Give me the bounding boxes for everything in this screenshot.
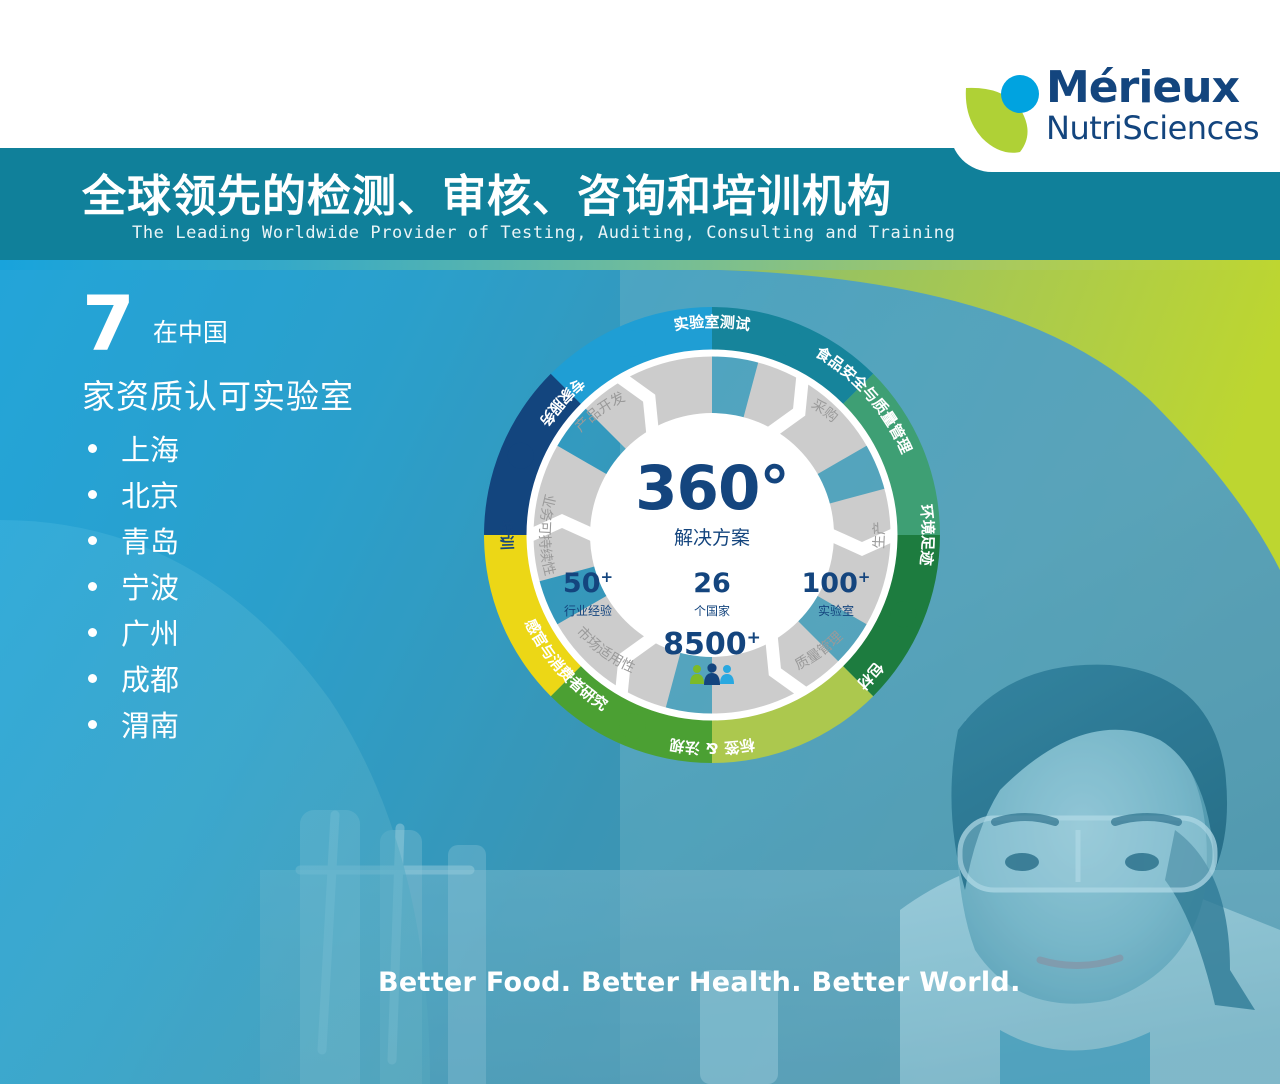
logo-name: Mérieux [1046,66,1259,110]
city-list-item: 宁波 [88,563,179,609]
city-name: 北京 [121,473,179,515]
city-list: 上海北京青岛宁波广州成都渭南 [88,425,179,747]
city-list-item: 渭南 [88,701,179,747]
merieux-logo-icon [960,72,1048,156]
page-subtitle: The Leading Worldwide Provider of Testin… [132,223,955,243]
lab-count-row: 7 在中国 [82,292,228,357]
city-list-item: 成都 [88,655,179,701]
tagline: Better Food. Better Health. Better World… [378,967,1021,998]
city-list-item: 上海 [88,425,179,471]
logo-wordmark: Mérieux NutriSciences [1046,66,1259,146]
360-solutions-wheel: 实验室测试 食品安全与质量管理 环境足迹 包材 标签 & 法规 感官与消费者研究… [462,285,962,785]
header-gradient-strip [0,260,1280,270]
bullet-icon [88,628,97,637]
bullet-icon [88,674,97,683]
logo-subname: NutriSciences [1046,112,1259,146]
city-name: 渭南 [121,703,179,745]
city-name: 宁波 [121,565,179,607]
city-list-item: 青岛 [88,517,179,563]
city-list-item: 广州 [88,609,179,655]
city-name: 青岛 [121,519,179,561]
page-title: 全球领先的检测、审核、咨询和培训机构 [82,160,892,224]
bullet-icon [88,444,97,453]
lab-description: 家资质认可实验室 [82,370,354,418]
city-name: 成都 [121,657,179,699]
lab-count-label: 在中国 [153,313,228,349]
bullet-icon [88,536,97,545]
city-name: 上海 [121,427,179,469]
lab-count-number: 7 [82,292,135,357]
brand-logo: Mérieux NutriSciences [950,54,1280,172]
bullet-icon [88,490,97,499]
wheel-core [590,413,834,657]
bullet-icon [88,582,97,591]
bullet-icon [88,720,97,729]
city-list-item: 北京 [88,471,179,517]
city-name: 广州 [121,611,179,653]
